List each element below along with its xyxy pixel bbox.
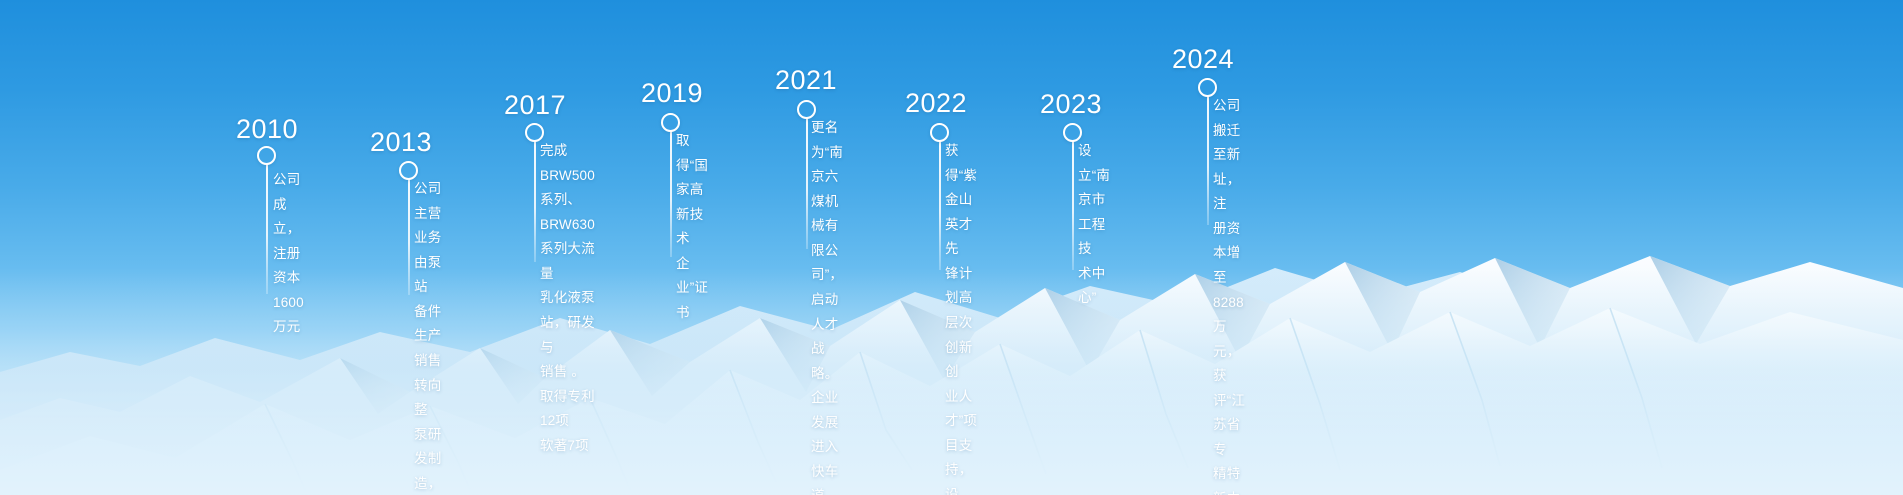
event-description: 公司主营业务由泵站 备件生产销售转向整 泵研发制造，成立产 品研发中心.公司注册… — [414, 177, 445, 495]
event-connector-line — [534, 141, 536, 262]
timeline-infographic: 2010公司成立，注册资本 1600万元2013公司主营业务由泵站 备件生产销售… — [0, 0, 1903, 495]
event-connector-line — [670, 131, 672, 257]
event-description: 公司搬迁至新址，注 册资本增至8288万 元，获评“江苏省专 精特新中小 企业” — [1213, 94, 1245, 495]
event-year-label: 2017 — [504, 90, 566, 121]
event-description: 完成BRW500系列、 BRW630系列大流量 乳化液泵站，研发与 销售 。取得… — [540, 139, 595, 458]
event-description: 设立“南京市工程技 术中心” — [1078, 139, 1110, 311]
event-year-label: 2023 — [1040, 89, 1102, 120]
event-connector-line — [266, 164, 268, 294]
event-circle-marker-icon[interactable] — [257, 146, 276, 165]
event-year-label: 2022 — [905, 88, 967, 119]
event-description: 取得“国家高新技术 企业”证书 — [676, 129, 708, 326]
event-connector-line — [408, 179, 410, 295]
event-year-label: 2024 — [1172, 44, 1234, 75]
event-connector-line — [939, 141, 941, 270]
event-connector-line — [1207, 96, 1209, 225]
event-year-label: 2010 — [236, 114, 298, 145]
event-description: 公司成立，注册资本 1600万元 — [273, 168, 304, 340]
event-year-label: 2019 — [641, 78, 703, 109]
event-description: 获得“紫金山英才先 锋计划高层次创新创 业人才”项目支持， 设立“南京市企业专 … — [945, 139, 977, 495]
event-year-label: 2021 — [775, 65, 837, 96]
event-year-label: 2013 — [370, 127, 432, 158]
event-description: 更名为“南京六煤机 械有限公司”，启动 人才战略。企业发展 进入快车道 — [811, 116, 843, 495]
event-connector-line — [806, 118, 808, 249]
event-connector-line — [1072, 141, 1074, 270]
